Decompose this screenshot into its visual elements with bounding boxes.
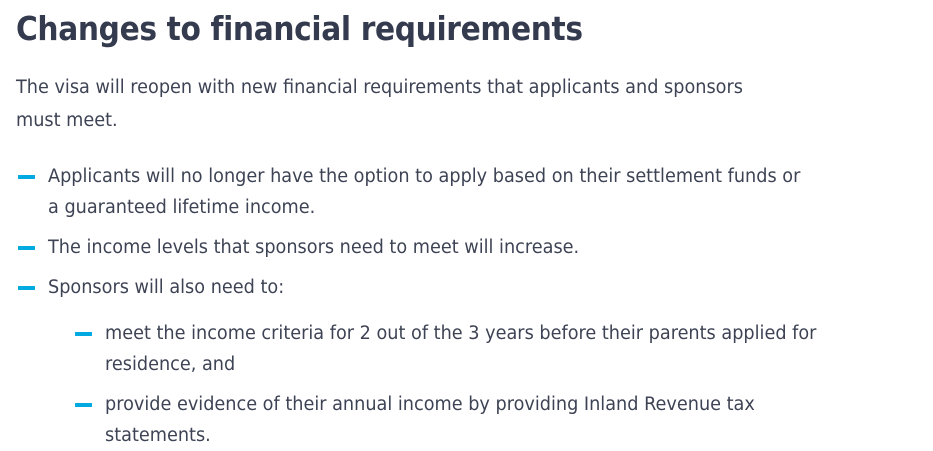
list-item: The income levels that sponsors need to … [16, 232, 917, 263]
en-dash-icon [75, 403, 92, 407]
sponsor-obligations-list: meet the income criteria for 2 out of th… [48, 303, 917, 451]
content-page: Changes to financial requirements The vi… [0, 0, 933, 436]
en-dash-icon [18, 175, 35, 179]
list-item: Applicants will no longer have the optio… [16, 161, 917, 223]
en-dash-icon [75, 332, 92, 336]
list-item: meet the income criteria for 2 out of th… [73, 318, 917, 380]
en-dash-icon [18, 246, 35, 250]
list-item-label: provide evidence of their annual income … [105, 389, 859, 451]
list-item-label: The income levels that sponsors need to … [48, 232, 807, 263]
requirements-list: Applicants will no longer have the optio… [16, 137, 917, 451]
intro-paragraph: The visa will reopen with new financial … [16, 49, 780, 137]
list-item: provide evidence of their annual income … [73, 389, 917, 451]
en-dash-icon [18, 286, 35, 290]
list-item-label: Applicants will no longer have the optio… [48, 161, 807, 223]
list-item-label: Sponsors will also need to: [48, 272, 807, 303]
page-title: Changes to financial requirements [16, 0, 827, 49]
list-item: Sponsors will also need to: meet the inc… [16, 272, 917, 451]
list-item-label: meet the income criteria for 2 out of th… [105, 318, 859, 380]
